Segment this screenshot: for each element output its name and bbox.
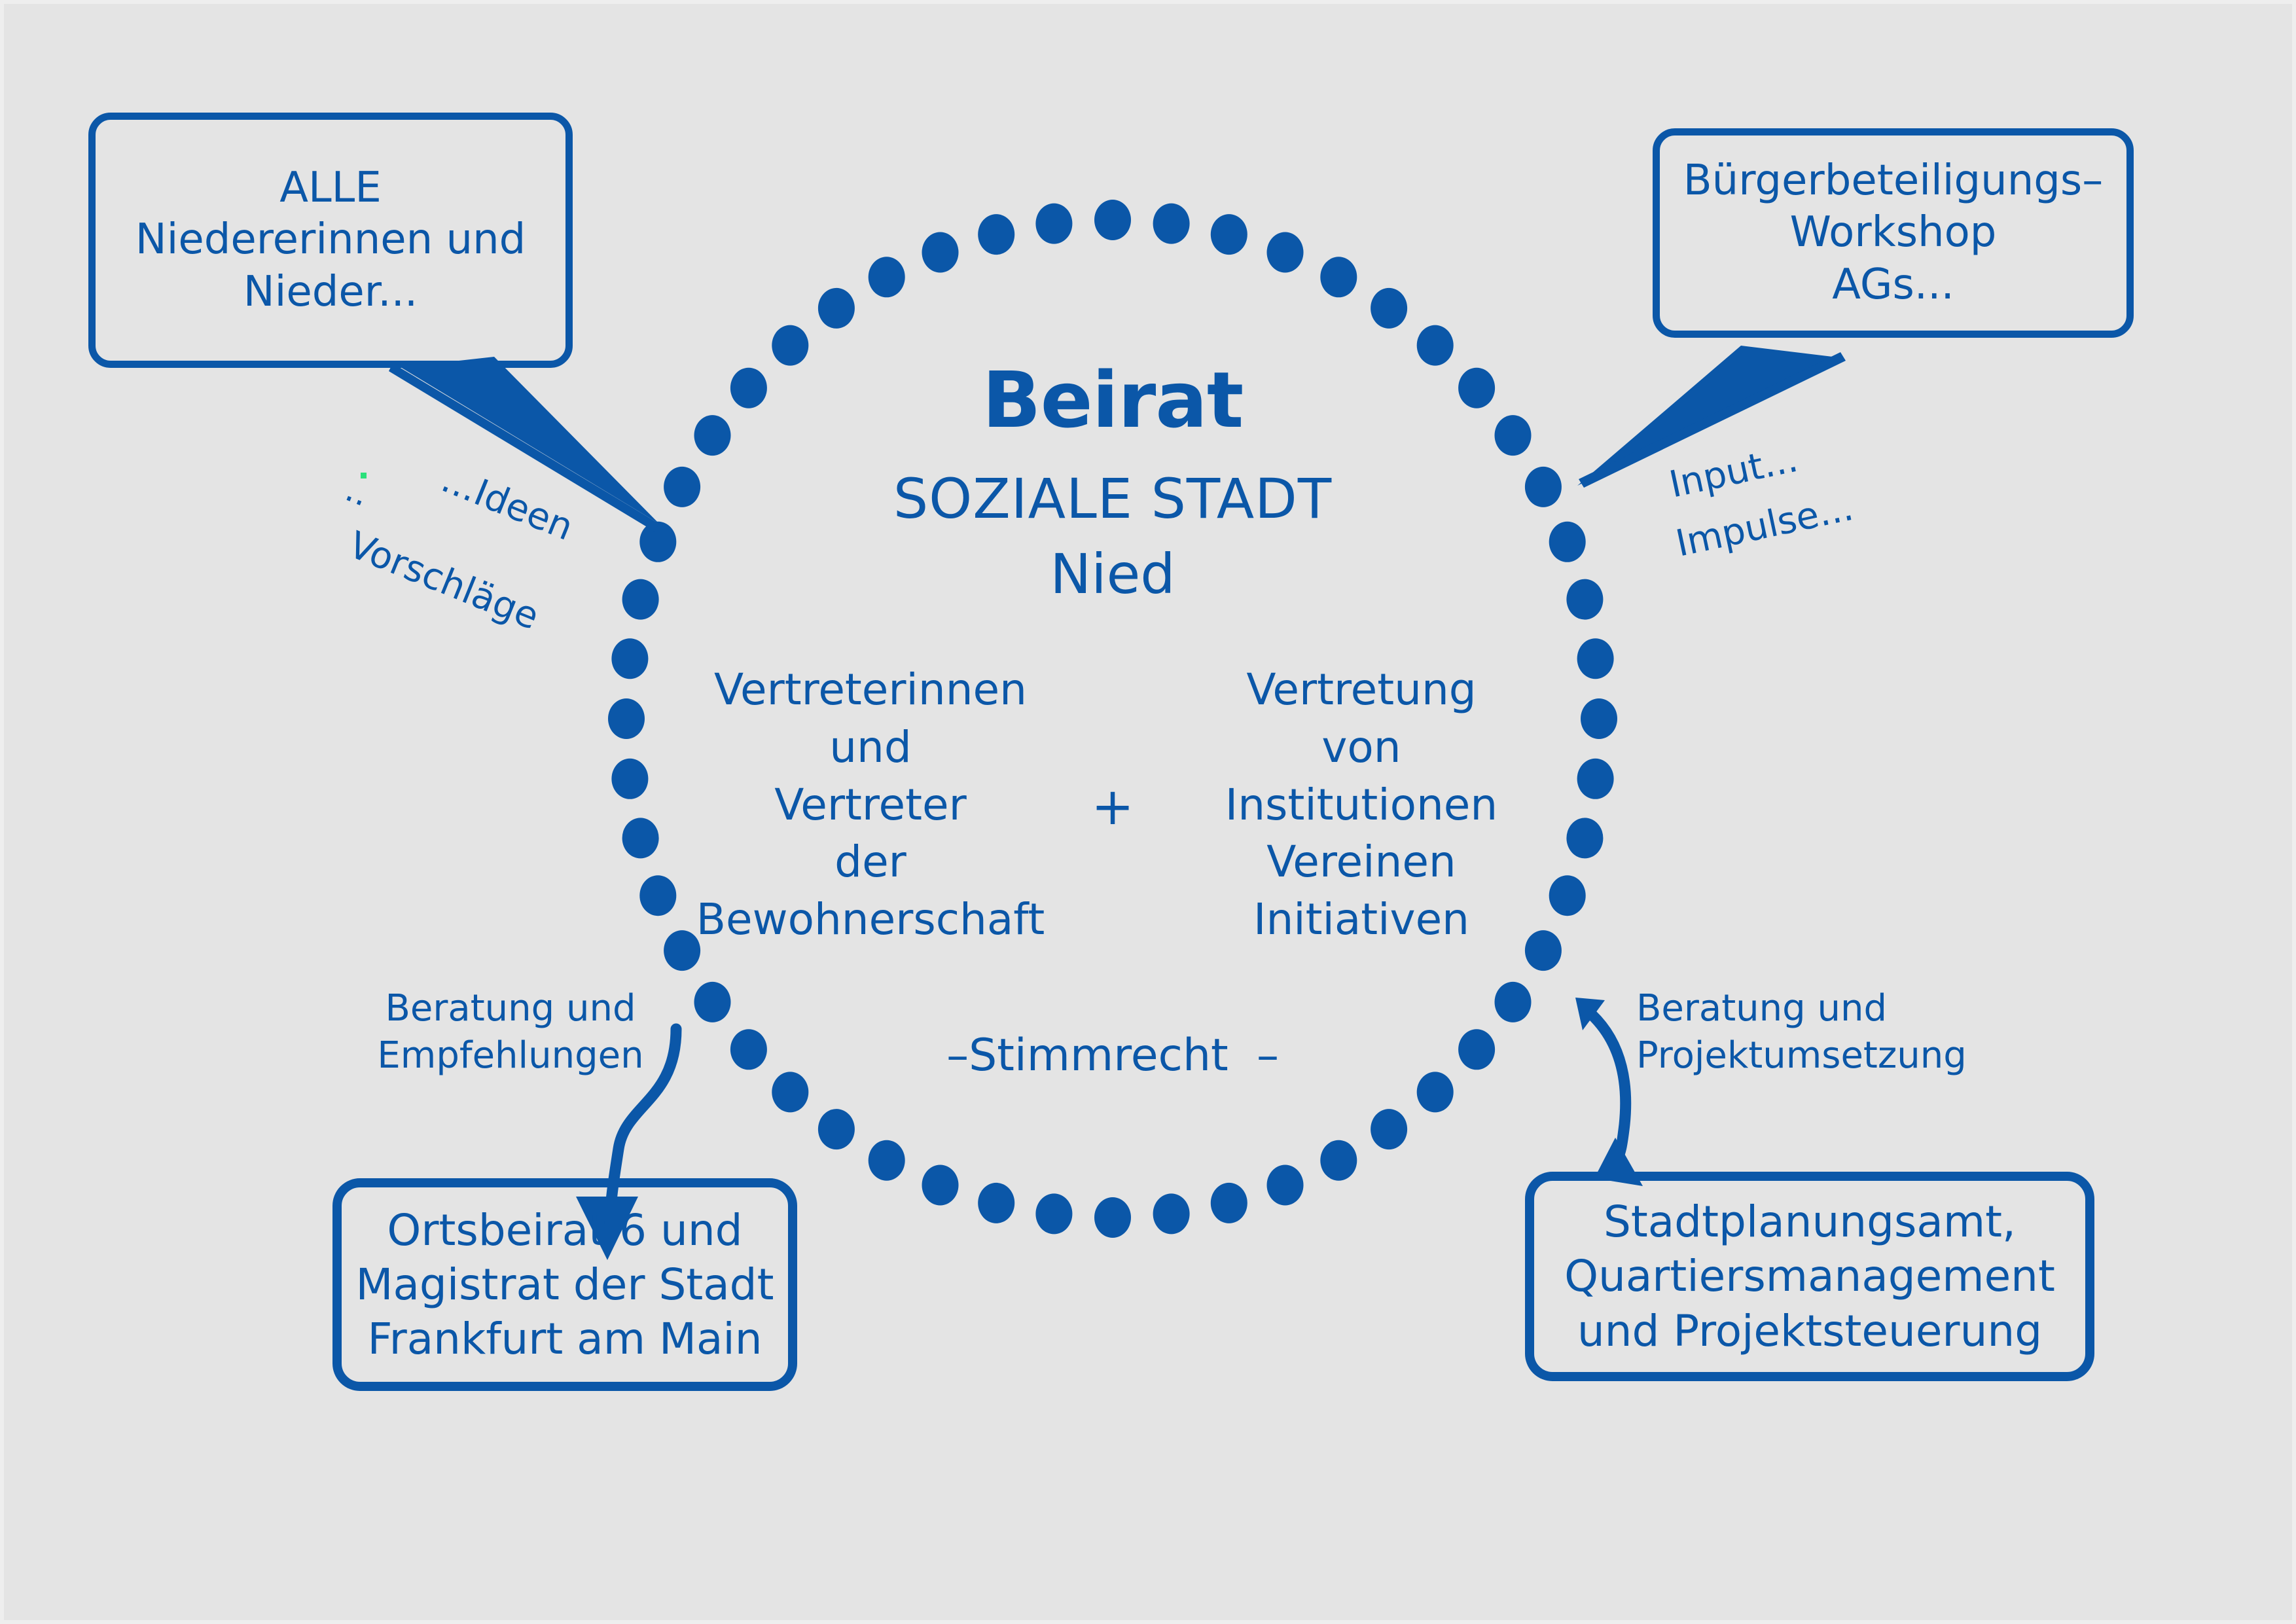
- ring-dot: [772, 1072, 808, 1112]
- ring-dot: [1094, 1197, 1131, 1238]
- ring-dot: [922, 232, 959, 273]
- ring-dot: [622, 579, 659, 620]
- ring-dot: [730, 1029, 767, 1070]
- ring-dot: [1153, 204, 1190, 244]
- ring-dot: [922, 1165, 959, 1206]
- ring-dot: [1458, 1029, 1495, 1070]
- ring-dot: [639, 522, 676, 562]
- box-bottom-left-text: Ortsbeirat 6 und Magistrat der Stadt Fra…: [356, 1203, 774, 1366]
- ring-dot: [869, 257, 905, 297]
- speech-bubble-top-right[interactable]: Bürgerbeteiligungs– Workshop AGs...: [1653, 128, 2134, 338]
- ring-dot: [608, 698, 645, 739]
- plus-sign: +: [1067, 779, 1158, 836]
- ring-dot: [1371, 1109, 1407, 1149]
- ring-dot: [1320, 257, 1357, 297]
- center-title: Beirat: [740, 357, 1486, 443]
- ring-dot: [1581, 698, 1617, 739]
- ring-dot: [978, 1183, 1014, 1223]
- annotation-beratung-projektumsetzung: Beratung und Projektumsetzung: [1636, 985, 1964, 1079]
- ring-dot: [1153, 1193, 1190, 1234]
- speech-bubble-top-left-text: ALLE Niedererinnen und Nieder...: [135, 162, 526, 318]
- ring-dot: [694, 982, 731, 1022]
- ring-dot: [1035, 1193, 1072, 1234]
- diagram-canvas: ALLE Niedererinnen und Nieder... Bürgerb…: [0, 0, 2296, 1624]
- ring-dot: [694, 415, 731, 456]
- ring-dot: [1417, 1072, 1454, 1112]
- ring-dot: [1371, 288, 1407, 329]
- ring-dot: [1525, 467, 1562, 507]
- ring-dot: [611, 759, 648, 799]
- ring-dot: [611, 638, 648, 679]
- center-right-column: Vertretung von Institutionen Vereinen In…: [1158, 661, 1564, 948]
- box-bottom-right-text: Stadtplanungsamt, Quartiersmanagement un…: [1564, 1195, 2055, 1358]
- center-subtitle-line-2: Nied: [740, 543, 1486, 605]
- ring-dot: [1549, 522, 1586, 562]
- ring-dot: [1566, 818, 1603, 858]
- ring-dot: [1035, 204, 1072, 244]
- ring-dot: [1094, 200, 1131, 240]
- ring-dot: [1577, 759, 1614, 799]
- center-footer-stimmrecht: –Stimmrecht –: [870, 1031, 1355, 1081]
- ring-dot: [1267, 1165, 1304, 1206]
- speech-bubble-top-right-text: Bürgerbeteiligungs– Workshop AGs...: [1683, 155, 2104, 311]
- ring-dot: [1577, 638, 1614, 679]
- ring-dot: [1320, 1140, 1357, 1181]
- ring-dot: [1211, 1183, 1247, 1223]
- double-arrow-icon: [1575, 998, 1643, 1186]
- ring-dot: [1267, 232, 1304, 273]
- ring-dot: [1495, 415, 1532, 456]
- box-bottom-right[interactable]: Stadtplanungsamt, Quartiersmanagement un…: [1525, 1172, 2094, 1381]
- speech-bubble-top-left[interactable]: ALLE Niedererinnen und Nieder...: [88, 113, 573, 368]
- center-left-column: Vertreterinnen und Vertreter der Bewohne…: [668, 661, 1073, 948]
- annotation-beratung-empfehlungen: Beratung und Empfehlungen: [360, 985, 661, 1079]
- ring-dot: [664, 467, 700, 507]
- center-subtitle-line-1: SOZIALE STADT: [740, 468, 1486, 530]
- ring-dot: [978, 214, 1014, 255]
- ring-dot: [869, 1140, 905, 1181]
- ring-dot: [622, 818, 659, 858]
- ring-dot: [1211, 214, 1247, 255]
- ring-dot: [1566, 579, 1603, 620]
- ring-dot: [818, 288, 855, 329]
- ring-dot: [818, 1109, 855, 1149]
- ring-dot: [1495, 982, 1532, 1022]
- box-bottom-left[interactable]: Ortsbeirat 6 und Magistrat der Stadt Fra…: [332, 1178, 797, 1391]
